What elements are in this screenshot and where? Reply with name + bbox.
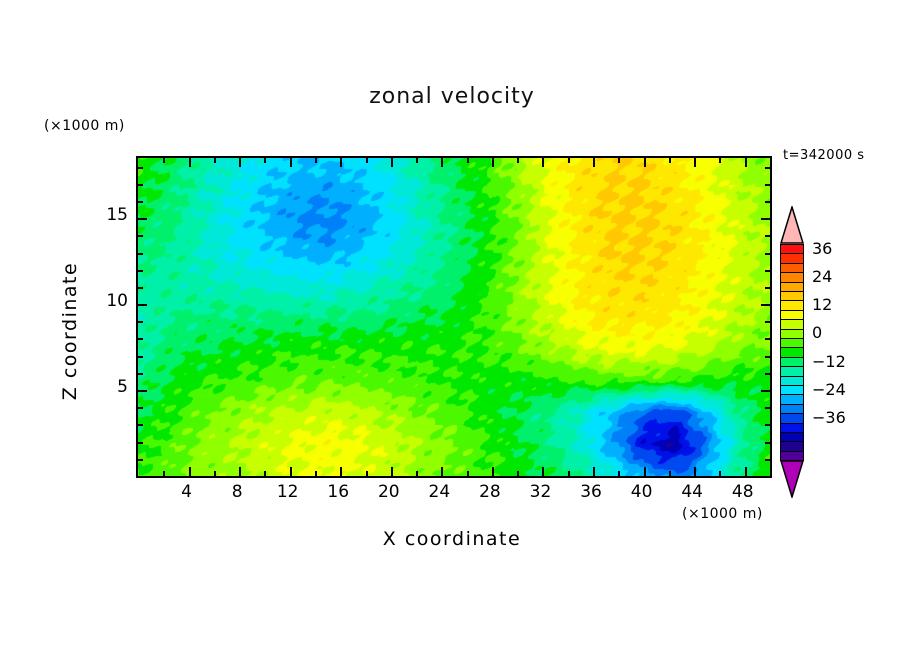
x-tick — [542, 158, 544, 167]
y-tick — [761, 390, 770, 392]
x-tick-label: 12 — [265, 482, 311, 502]
colorbar-tick-label: −24 — [812, 380, 846, 399]
y-tick — [138, 167, 143, 169]
x-tick — [264, 158, 266, 163]
x-tick — [391, 467, 393, 476]
x-tick — [492, 467, 494, 476]
x-tick-label: 32 — [517, 482, 563, 502]
x-axis-unit-label: (×1000 m) — [682, 506, 763, 522]
chart-title: zonal velocity — [0, 84, 904, 109]
x-tick — [163, 471, 165, 476]
x-tick — [290, 158, 292, 167]
y-tick — [765, 338, 770, 340]
y-tick — [138, 218, 147, 220]
x-tick — [618, 158, 620, 163]
y-tick-label: 10 — [88, 291, 128, 311]
x-tick — [719, 158, 721, 163]
x-tick — [290, 467, 292, 476]
x-tick — [467, 471, 469, 476]
y-tick — [765, 407, 770, 409]
colorbar-tick-label: 0 — [812, 323, 822, 342]
y-tick — [765, 235, 770, 237]
x-tick — [644, 158, 646, 167]
colorbar-over-arrow — [780, 206, 804, 244]
y-tick — [138, 201, 143, 203]
y-tick — [765, 184, 770, 186]
x-tick-label: 20 — [366, 482, 412, 502]
x-tick — [517, 471, 519, 476]
colorbar-under-arrow — [780, 460, 804, 498]
y-tick-label: 5 — [88, 377, 128, 397]
x-tick-label: 16 — [315, 482, 361, 502]
y-tick — [138, 338, 143, 340]
x-tick — [568, 158, 570, 163]
y-tick — [765, 253, 770, 255]
y-tick — [138, 321, 143, 323]
x-tick — [618, 471, 620, 476]
x-tick — [239, 467, 241, 476]
contour-plot-area — [136, 156, 772, 478]
y-axis-unit-label: (×1000 m) — [44, 118, 125, 134]
y-tick — [138, 184, 143, 186]
contour-field-canvas — [138, 158, 770, 476]
y-tick — [765, 287, 770, 289]
x-tick — [315, 158, 317, 163]
x-tick — [416, 471, 418, 476]
colorbar-tick-label: 24 — [812, 267, 832, 286]
x-tick — [669, 471, 671, 476]
y-tick — [765, 201, 770, 203]
x-tick — [441, 158, 443, 167]
y-tick — [765, 167, 770, 169]
x-tick — [264, 471, 266, 476]
x-tick — [719, 471, 721, 476]
x-tick — [542, 467, 544, 476]
x-tick — [340, 158, 342, 167]
time-annotation: t=342000 s — [783, 148, 865, 163]
x-tick-label: 24 — [416, 482, 462, 502]
y-axis-title: Z coordinate — [59, 231, 81, 431]
x-tick — [214, 158, 216, 163]
x-tick-label: 36 — [568, 482, 614, 502]
y-tick — [765, 459, 770, 461]
x-tick — [214, 471, 216, 476]
x-tick-label: 8 — [214, 482, 260, 502]
x-tick — [568, 471, 570, 476]
x-tick-label: 44 — [669, 482, 715, 502]
x-tick — [745, 467, 747, 476]
y-tick — [138, 304, 147, 306]
x-tick — [517, 158, 519, 163]
x-tick — [467, 158, 469, 163]
x-tick — [492, 158, 494, 167]
y-tick — [765, 373, 770, 375]
y-tick — [138, 407, 143, 409]
y-tick — [138, 287, 143, 289]
y-tick — [765, 356, 770, 358]
y-tick — [138, 373, 143, 375]
colorbar-tick-label: −36 — [812, 408, 846, 427]
x-tick — [239, 158, 241, 167]
x-tick — [391, 158, 393, 167]
x-tick — [163, 158, 165, 163]
x-tick-label: 4 — [164, 482, 210, 502]
x-tick — [189, 467, 191, 476]
y-tick — [138, 270, 143, 272]
x-tick — [189, 158, 191, 167]
colorbar-tick-label: 12 — [812, 295, 832, 314]
x-tick — [340, 467, 342, 476]
x-tick — [315, 471, 317, 476]
x-tick — [366, 158, 368, 163]
x-tick — [416, 158, 418, 163]
y-tick — [138, 390, 147, 392]
y-tick — [138, 235, 143, 237]
y-tick — [765, 270, 770, 272]
x-axis-title: X coordinate — [0, 528, 904, 550]
x-tick — [694, 158, 696, 167]
x-tick — [669, 158, 671, 163]
x-tick — [593, 467, 595, 476]
x-tick — [644, 467, 646, 476]
y-tick — [138, 459, 143, 461]
y-tick — [138, 424, 143, 426]
y-tick — [138, 442, 143, 444]
y-tick — [761, 304, 770, 306]
y-tick — [765, 321, 770, 323]
x-tick — [366, 471, 368, 476]
y-tick-label: 15 — [88, 205, 128, 225]
colorbar-tick-label: 36 — [812, 239, 832, 258]
y-tick — [138, 356, 143, 358]
x-tick — [745, 158, 747, 167]
x-tick-label: 28 — [467, 482, 513, 502]
x-tick-label: 48 — [720, 482, 766, 502]
y-tick — [138, 253, 143, 255]
x-tick — [694, 467, 696, 476]
y-tick — [765, 424, 770, 426]
colorbar-tick-label: −12 — [812, 352, 846, 371]
x-tick — [441, 467, 443, 476]
y-tick — [761, 218, 770, 220]
x-tick-label: 40 — [619, 482, 665, 502]
x-tick — [593, 158, 595, 167]
y-tick — [765, 442, 770, 444]
colorbar — [780, 206, 804, 468]
